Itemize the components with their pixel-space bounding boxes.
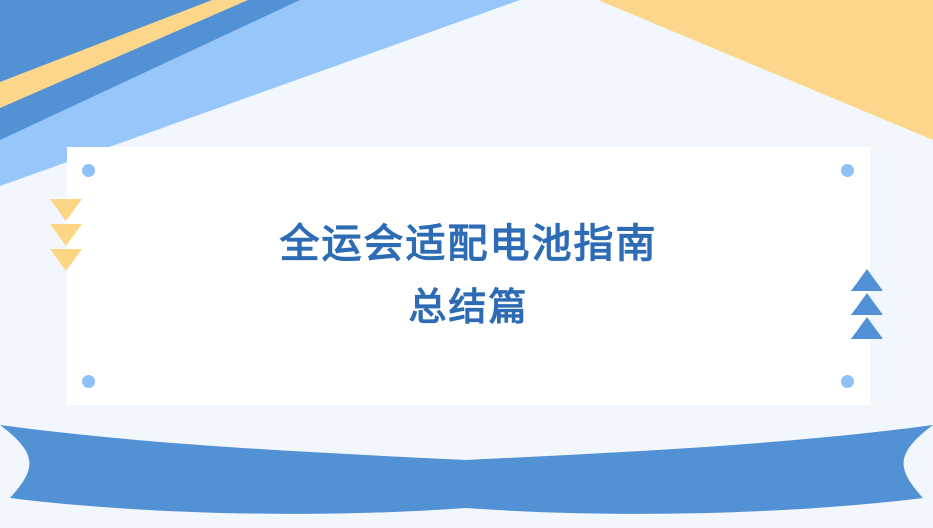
right-triangle-group	[851, 269, 883, 339]
triangle-up-icon	[851, 317, 883, 339]
card-dot-top-left	[82, 164, 95, 177]
triangle-down-icon	[50, 199, 82, 221]
triangle-up-icon	[851, 269, 883, 291]
content-card	[67, 147, 870, 405]
triangle-down-icon	[50, 224, 82, 246]
left-triangle-group	[50, 199, 82, 271]
triangle-up-icon	[851, 293, 883, 315]
card-dot-bottom-right	[841, 375, 854, 388]
triangle-down-icon	[50, 249, 82, 271]
card-dot-top-right	[841, 164, 854, 177]
card-dot-bottom-left	[82, 375, 95, 388]
slide-canvas: 全运会适配电池指南 总结篇	[0, 0, 933, 528]
